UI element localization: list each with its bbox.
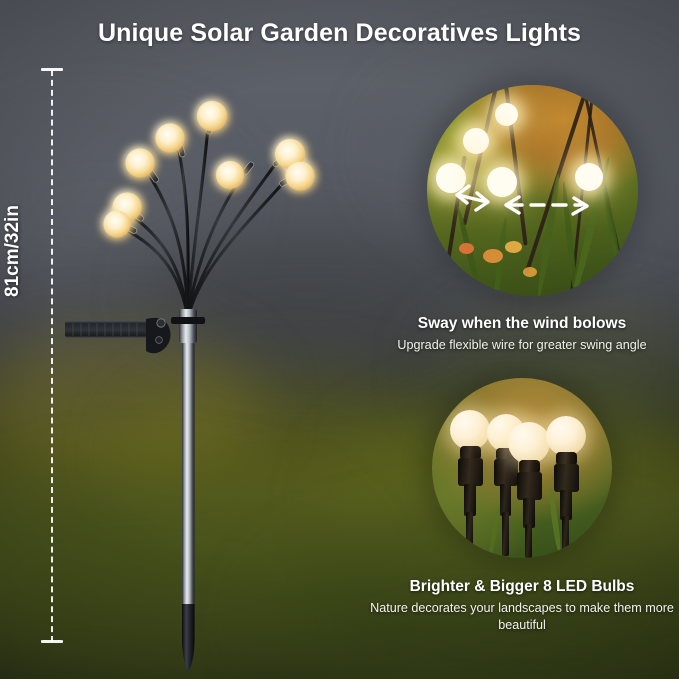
product-solar-panel (65, 321, 147, 338)
feature-subtext: Upgrade flexible wire for greater swing … (365, 337, 679, 354)
feature-heading: Brighter & Bigger 8 LED Bulbs (365, 578, 679, 596)
feature-inset-sway (427, 85, 638, 296)
page-title: Unique Solar Garden Decoratives Lights (0, 19, 679, 48)
feature-heading: Sway when the wind bolows (365, 315, 679, 333)
feature-caption-sway: Sway when the wind bolows Upgrade flexib… (365, 315, 679, 354)
feature-inset-led-bulbs (432, 378, 612, 558)
product-hinge-bracket (146, 318, 171, 353)
product-illustration (60, 55, 350, 655)
sway-motion-arrows (427, 85, 638, 296)
feature-subtext: Nature decorates your landscapes to make… (365, 600, 679, 634)
product-led-bulbs (104, 101, 315, 238)
product-marketing-image: Unique Solar Garden Decoratives Lights 8… (0, 0, 679, 679)
ruler-dashed-line-icon (51, 70, 53, 642)
product-pole (171, 309, 205, 607)
dimension-label: 81cm/32in (2, 191, 24, 311)
feature-caption-led-bulbs: Brighter & Bigger 8 LED Bulbs Nature dec… (365, 578, 679, 634)
